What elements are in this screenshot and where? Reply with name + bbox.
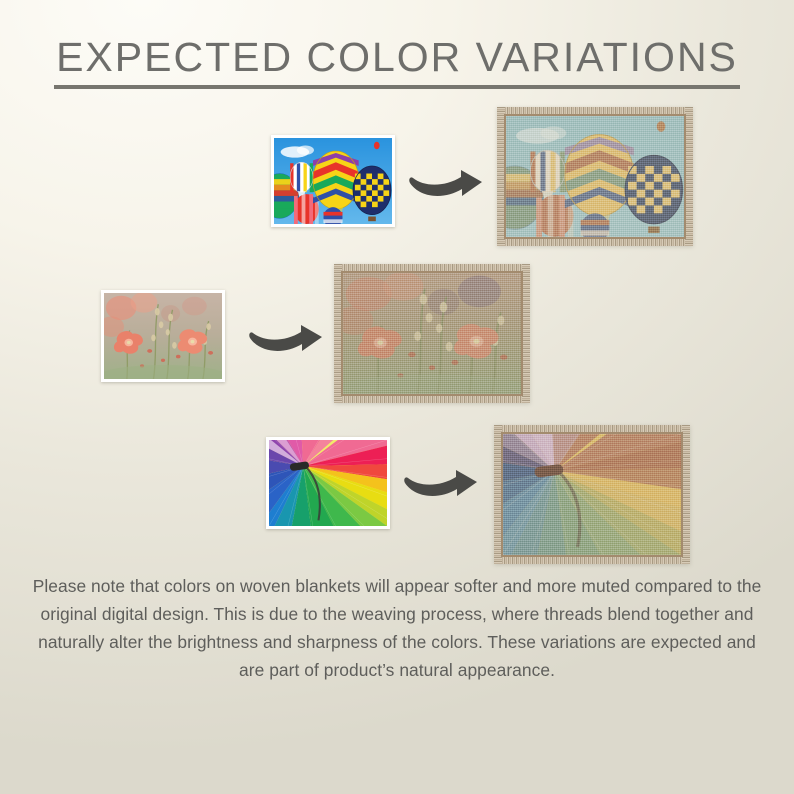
- original-image-flowers: [101, 290, 225, 382]
- flowers-woven-art: [343, 273, 521, 394]
- blanket-fringe-right: [682, 425, 690, 564]
- original-image-balloons: [271, 135, 395, 227]
- blanket-flowers-weave: [341, 271, 523, 396]
- arrow-flowers: [244, 313, 326, 357]
- blanket-fringe-right: [522, 264, 530, 403]
- blanket-flowers: [334, 264, 530, 403]
- curved-arrow-right-icon: [399, 458, 481, 502]
- balloons-woven-svg: [506, 116, 684, 237]
- umbrella-woven-art: [503, 434, 681, 555]
- blanket-fringe-right: [685, 107, 693, 246]
- original-image-umbrella: [266, 437, 390, 529]
- balloons-woven-art: [506, 116, 684, 237]
- umbrella-woven-svg: [503, 434, 681, 555]
- expected-color-variations-infographic: EXPECTED COLOR VARIATIONS: [0, 0, 794, 794]
- page-title-container: EXPECTED COLOR VARIATIONS: [0, 36, 794, 89]
- blanket-fringe-bottom: [494, 556, 690, 564]
- flowers-original-art: [104, 293, 222, 379]
- flowers-original-svg: [104, 293, 222, 379]
- arrow-umbrella: [399, 458, 481, 502]
- disclaimer-note: Please note that colors on woven blanket…: [24, 572, 770, 684]
- blanket-umbrella-weave: [501, 432, 683, 557]
- arrow-balloons: [404, 158, 486, 202]
- balloons-original-art: [274, 138, 392, 224]
- curved-arrow-right-icon: [404, 158, 486, 202]
- blanket-fringe-bottom: [334, 395, 530, 403]
- umbrella-original-art: [269, 440, 387, 526]
- blanket-balloons: [497, 107, 693, 246]
- curved-arrow-right-icon: [244, 313, 326, 357]
- blanket-fringe-bottom: [497, 238, 693, 246]
- blanket-balloons-weave: [504, 114, 686, 239]
- blanket-umbrella: [494, 425, 690, 564]
- page-title: EXPECTED COLOR VARIATIONS: [54, 36, 740, 89]
- flowers-woven-svg: [343, 273, 521, 394]
- balloons-original-svg: [274, 138, 392, 224]
- umbrella-original-svg: [269, 440, 387, 526]
